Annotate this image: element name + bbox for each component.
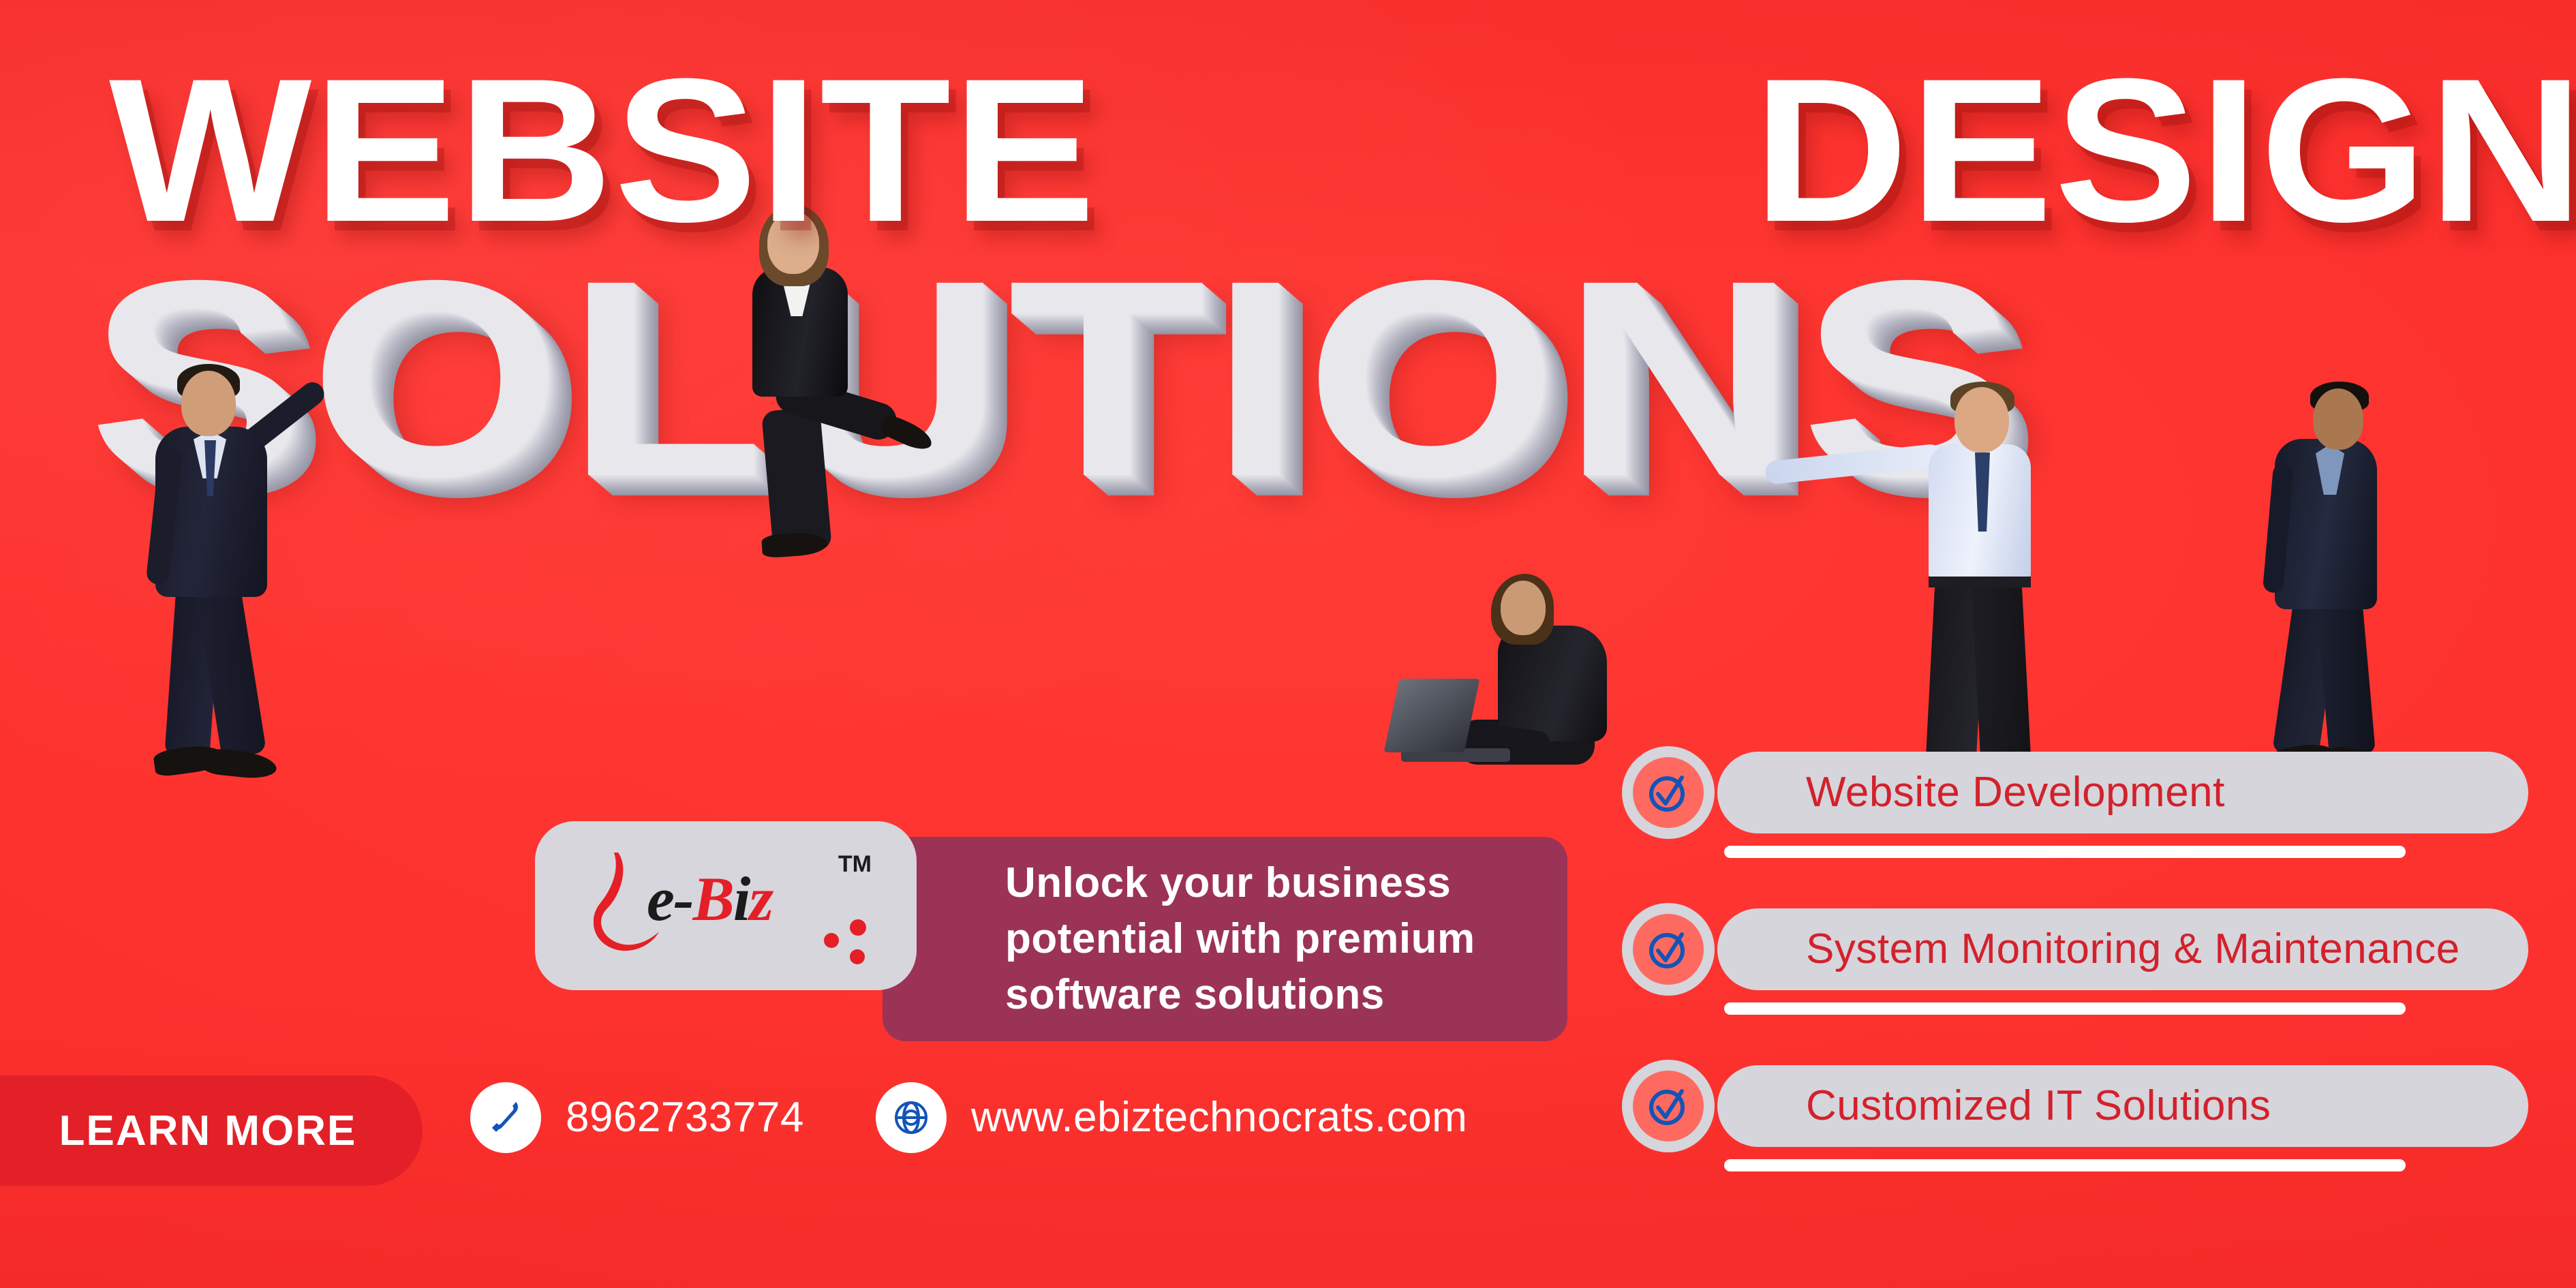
shoe-right [202, 747, 277, 780]
headline-word-2: DESIGN [1753, 65, 2576, 242]
service-underline [1724, 1159, 2406, 1171]
head [1954, 387, 2009, 453]
logo-dot-2 [850, 919, 866, 936]
website-url: www.ebiztechnocrats.com [971, 1097, 1467, 1139]
logo-trademark: TM [838, 851, 872, 878]
check-glyph [1644, 1082, 1693, 1131]
service-label: System Monitoring & Maintenance [1806, 928, 2460, 970]
learn-more-button[interactable]: LEARN MORE [0, 1075, 423, 1186]
check-badge-inner [1633, 757, 1704, 828]
check-glyph [1644, 925, 1693, 974]
logo-letter-i: i [733, 864, 750, 934]
leg-hanging [761, 407, 832, 555]
service-underline [1724, 846, 2406, 858]
logo-letter-z: z [749, 864, 772, 934]
phone-glyph [485, 1097, 527, 1139]
tagline-line-3: software solutions [1005, 967, 1567, 1023]
logo-inner: e-Biz TM [576, 844, 876, 967]
person-with-laptop [1377, 572, 1636, 797]
check-circle-icon [1622, 746, 1715, 839]
tagline-line-2: potential with premium [1005, 911, 1567, 967]
promo-banner: SOLUTIONS WEBSITE DESIGN [0, 0, 2576, 1288]
person-walking-right [2242, 382, 2412, 763]
laptop-screen [1384, 679, 1480, 752]
check-badge-inner [1633, 914, 1704, 985]
check-badge-inner [1633, 1071, 1704, 1141]
logo-dot-1 [824, 933, 839, 948]
service-label: Website Development [1806, 771, 2225, 814]
logo-letter-e: e [647, 864, 673, 934]
service-pill[interactable]: Website Development [1717, 752, 2528, 833]
logo-letter-dash: - [673, 864, 693, 934]
globe-glyph [890, 1097, 932, 1139]
phone-number: 8962733774 [566, 1097, 804, 1139]
head [2313, 388, 2363, 450]
contact-phone[interactable]: 8962733774 [470, 1082, 804, 1153]
leg-right [1972, 583, 2031, 773]
head [181, 371, 236, 436]
check-circle-icon [1622, 1060, 1715, 1152]
person-pointing-right [1854, 382, 2072, 791]
globe-icon [876, 1082, 947, 1153]
phone-icon [470, 1082, 541, 1153]
belt [1929, 577, 2031, 587]
service-label: Customized IT Solutions [1806, 1085, 2271, 1127]
check-glyph [1644, 768, 1693, 817]
service-pill[interactable]: System Monitoring & Maintenance [1717, 908, 2528, 990]
person-leaning-left [123, 361, 320, 784]
leg-front [2316, 596, 2376, 756]
page-title: WEBSITE DESIGN [109, 65, 2576, 242]
logo-wordmark: e-Biz [647, 868, 772, 930]
service-underline [1724, 1002, 2406, 1015]
subheadline-solutions: SOLUTIONS [89, 242, 2576, 515]
brand-logo-card[interactable]: e-Biz TM [535, 821, 917, 990]
learn-more-label: LEARN MORE [59, 1107, 357, 1155]
tagline-box: Unlock your business potential with prem… [883, 837, 1567, 1041]
head [1501, 581, 1546, 635]
contact-website[interactable]: www.ebiztechnocrats.com [876, 1082, 1467, 1153]
headline-word-1: WEBSITE [109, 65, 1097, 242]
check-circle-icon [1622, 903, 1715, 996]
logo-letter-b: B [692, 864, 733, 934]
service-pill[interactable]: Customized IT Solutions [1717, 1065, 2528, 1147]
logo-dot-3 [850, 949, 865, 964]
tagline-line-1: Unlock your business [1005, 855, 1567, 911]
